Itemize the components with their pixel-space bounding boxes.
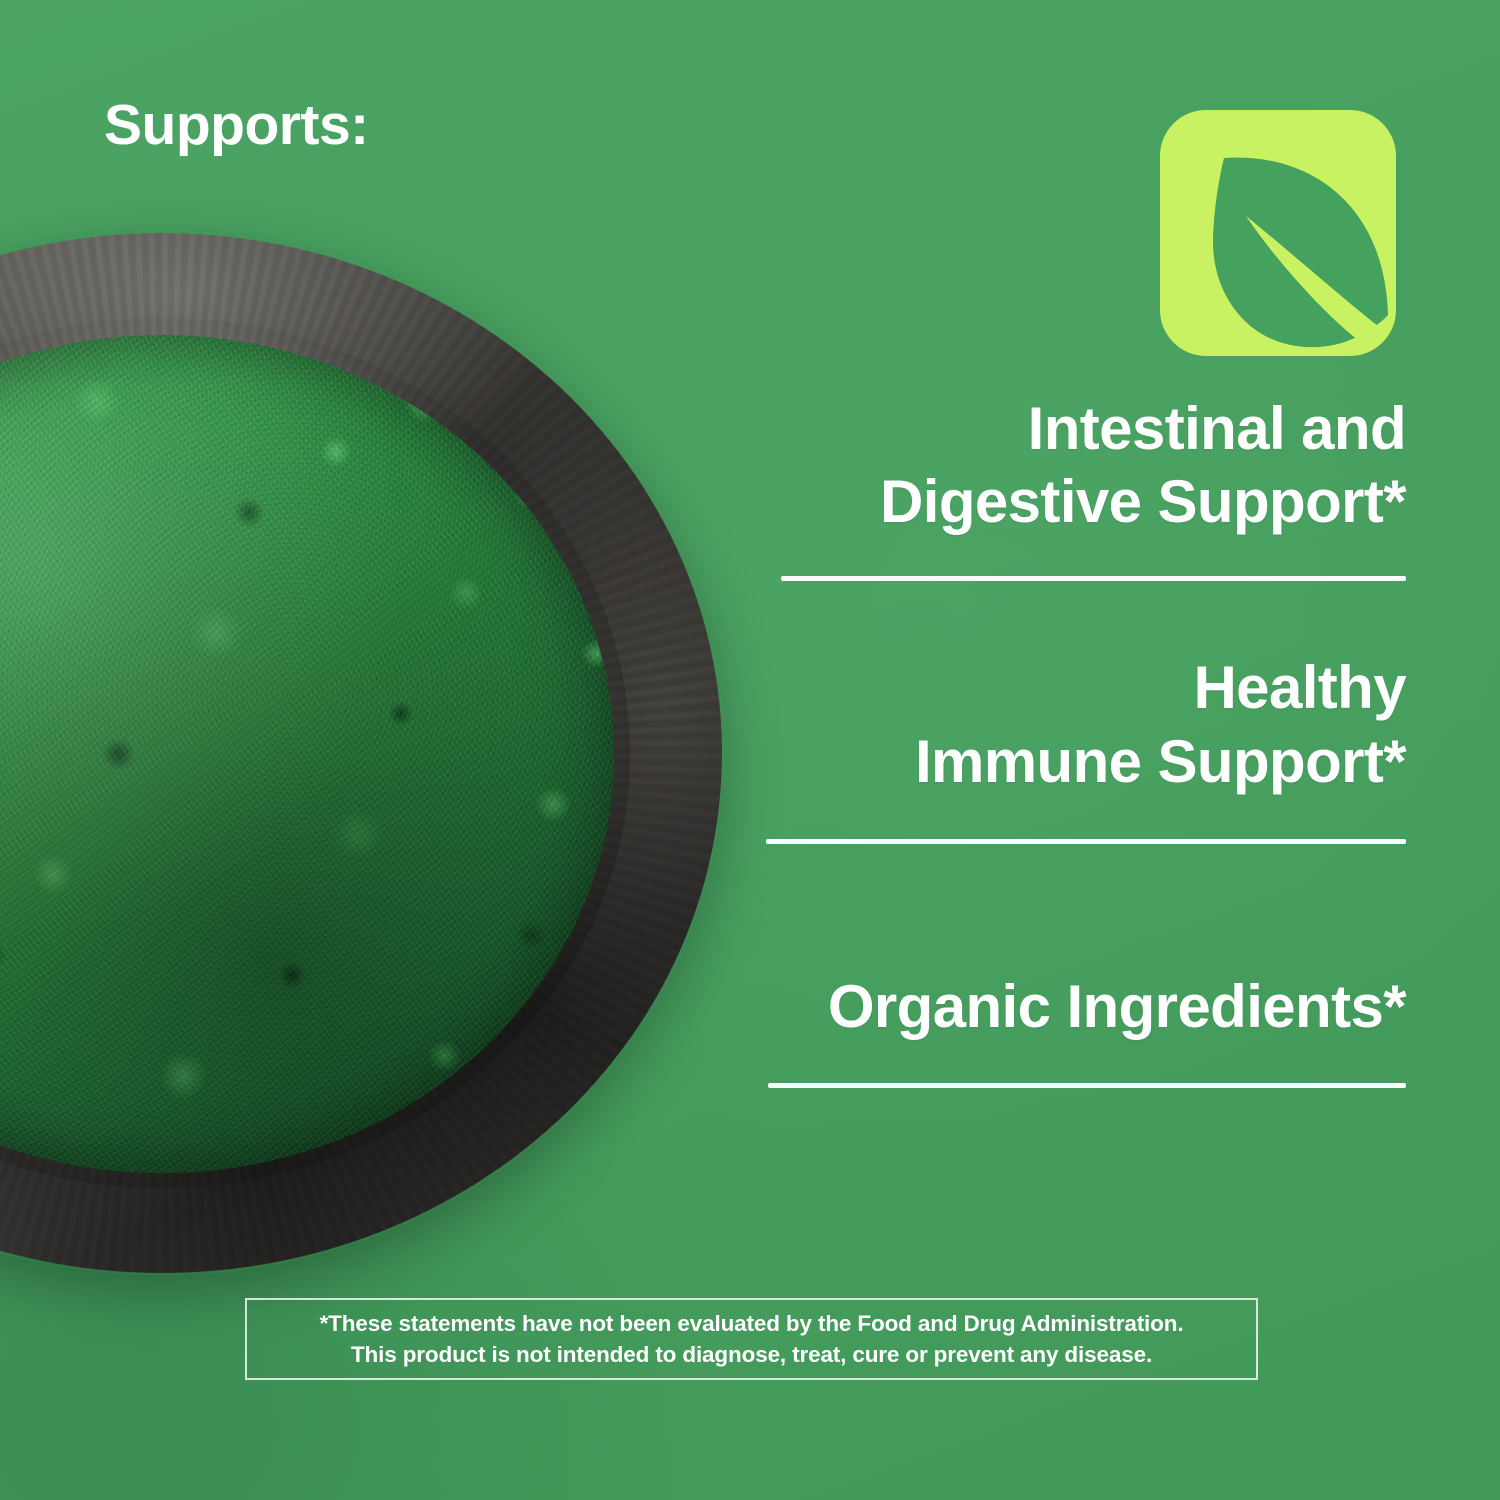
powder-clumps-light [0,335,614,1173]
powder-shading [0,335,614,1173]
benefit-divider [768,1083,1406,1088]
powder-grain [0,335,614,1173]
benefit-label: Intestinal and Digestive Support* [600,392,1406,538]
disclaimer-line-2: This product is not intended to diagnose… [351,1339,1152,1370]
powder-edge-clumps [0,335,614,1173]
benefits-list: Intestinal and Digestive Support* Health… [600,392,1406,1088]
product-benefits-panel: Supports: Intestinal and Digestive Suppo… [0,0,1500,1500]
fda-disclaimer-box: *These statements have not been evaluate… [245,1298,1258,1380]
benefit-label: Healthy Immune Support* [600,651,1406,797]
disclaimer-line-1: *These statements have not been evaluate… [320,1308,1184,1339]
leaf-logo-icon [1160,110,1396,356]
benefit-item-healthy-immune: Healthy Immune Support* [600,651,1406,843]
benefit-item-organic-ingredients: Organic Ingredients* [600,970,1406,1088]
powder-clumps-dark [0,335,614,1173]
benefit-item-intestinal-digestive: Intestinal and Digestive Support* [600,392,1406,581]
supports-heading: Supports: [104,96,369,156]
benefit-divider [766,839,1406,844]
benefit-divider [781,576,1406,581]
bowl-inner-shadow [0,318,630,1187]
benefit-label: Organic Ingredients* [600,970,1406,1043]
green-powder [0,335,614,1173]
